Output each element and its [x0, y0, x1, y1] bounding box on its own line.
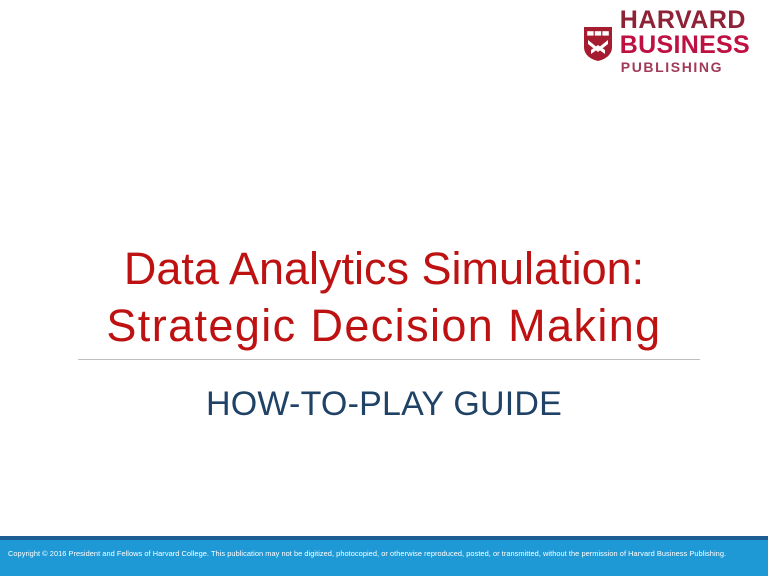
slide-canvas: HARVARD BUSINESS PUBLISHING Data Analyti… — [0, 0, 768, 576]
logo-business-text: BUSINESS — [620, 33, 750, 58]
logo-harvard-text: HARVARD — [620, 8, 746, 32]
harvard-business-publishing-logo: HARVARD BUSINESS PUBLISHING — [583, 8, 750, 74]
copyright-notice: Copyright © 2016 President and Fellows o… — [8, 549, 726, 558]
logo-wordmark: HARVARD BUSINESS PUBLISHING — [620, 8, 750, 74]
footer-band: Copyright © 2016 President and Fellows o… — [0, 540, 768, 576]
harvard-shield-icon — [583, 26, 613, 62]
page-subtitle: HOW-TO-PLAY GUIDE — [0, 385, 768, 424]
logo-publishing-text: PUBLISHING — [621, 60, 723, 74]
title-divider — [78, 359, 700, 360]
title-line-2: Strategic Decision Making — [0, 297, 768, 354]
footer-bar: Copyright © 2016 President and Fellows o… — [0, 536, 768, 576]
page-title: Data Analytics Simulation: Strategic Dec… — [0, 240, 768, 354]
title-line-1: Data Analytics Simulation: — [0, 240, 768, 297]
